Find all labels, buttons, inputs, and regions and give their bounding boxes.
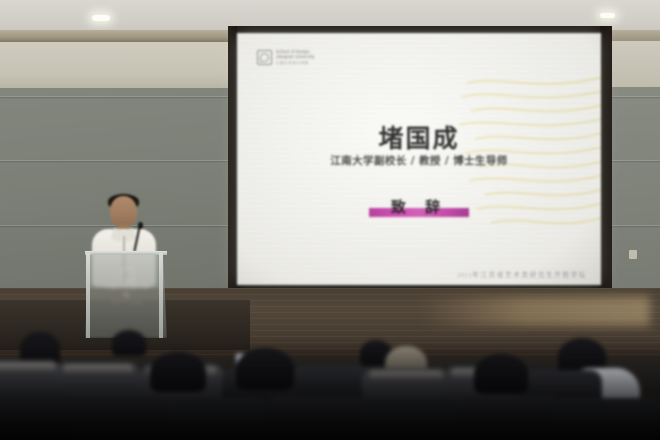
audience-person (150, 352, 206, 392)
audience-seat (70, 396, 170, 440)
lecture-hall-photo: School of Design, Jiangnan University 江南… (0, 0, 660, 440)
ceiling-light-right-icon (600, 13, 615, 18)
presentation-slide: School of Design, Jiangnan University 江南… (237, 33, 601, 285)
podium-logo: 江南大学设计学院 School of Design (104, 268, 150, 304)
podium-logo-subtext: School of Design (104, 300, 150, 304)
podium-logo-text: 江南大学设计学院 (104, 283, 150, 299)
dado-light-reflection (420, 296, 650, 326)
logo-line-3: 江南大学设计学院 (276, 61, 315, 65)
podium-rail-right (159, 253, 163, 338)
jiangnan-university-seal-icon (257, 50, 272, 65)
audience-person (236, 348, 294, 390)
audience-seat (0, 394, 76, 440)
logo-line-2: Jiangnan University (276, 55, 315, 60)
audience-seat (266, 396, 366, 440)
podium-rail-left (86, 253, 90, 338)
audience (0, 330, 660, 440)
slide-footer-text: 年江苏省艺术类研究生开题学坛 (472, 271, 587, 279)
presenter-head (110, 196, 137, 227)
soffit-beam-left (0, 30, 236, 42)
audience-seat (552, 398, 660, 440)
ceiling-light-icon (92, 15, 110, 21)
screen-frame-left-edge (228, 26, 237, 290)
podium-top-edge (85, 251, 167, 255)
audience-person (474, 354, 528, 394)
slide-footer: 2021年江苏省艺术类研究生开题学坛 (457, 269, 587, 279)
slide-title: 堵国成 (237, 119, 601, 155)
slide-logo: School of Design, Jiangnan University 江南… (257, 50, 315, 65)
upper-wall-band-left (0, 42, 240, 88)
audience-seat (458, 396, 560, 440)
slide-highlight-block: 致 辞 (369, 196, 469, 217)
wall-outlet-icon (629, 250, 637, 259)
microphone-head-icon (138, 222, 143, 229)
highlight-text: 致 辞 (391, 196, 447, 217)
audience-seat (166, 398, 270, 440)
jiangnan-university-seal-icon (121, 268, 134, 281)
slide-subtitle: 江南大学副校长 / 教授 / 博士生导师 (237, 153, 601, 168)
audience-person (112, 330, 146, 356)
audience-seat (360, 398, 464, 440)
slide-footer-year: 2021 (457, 273, 472, 279)
